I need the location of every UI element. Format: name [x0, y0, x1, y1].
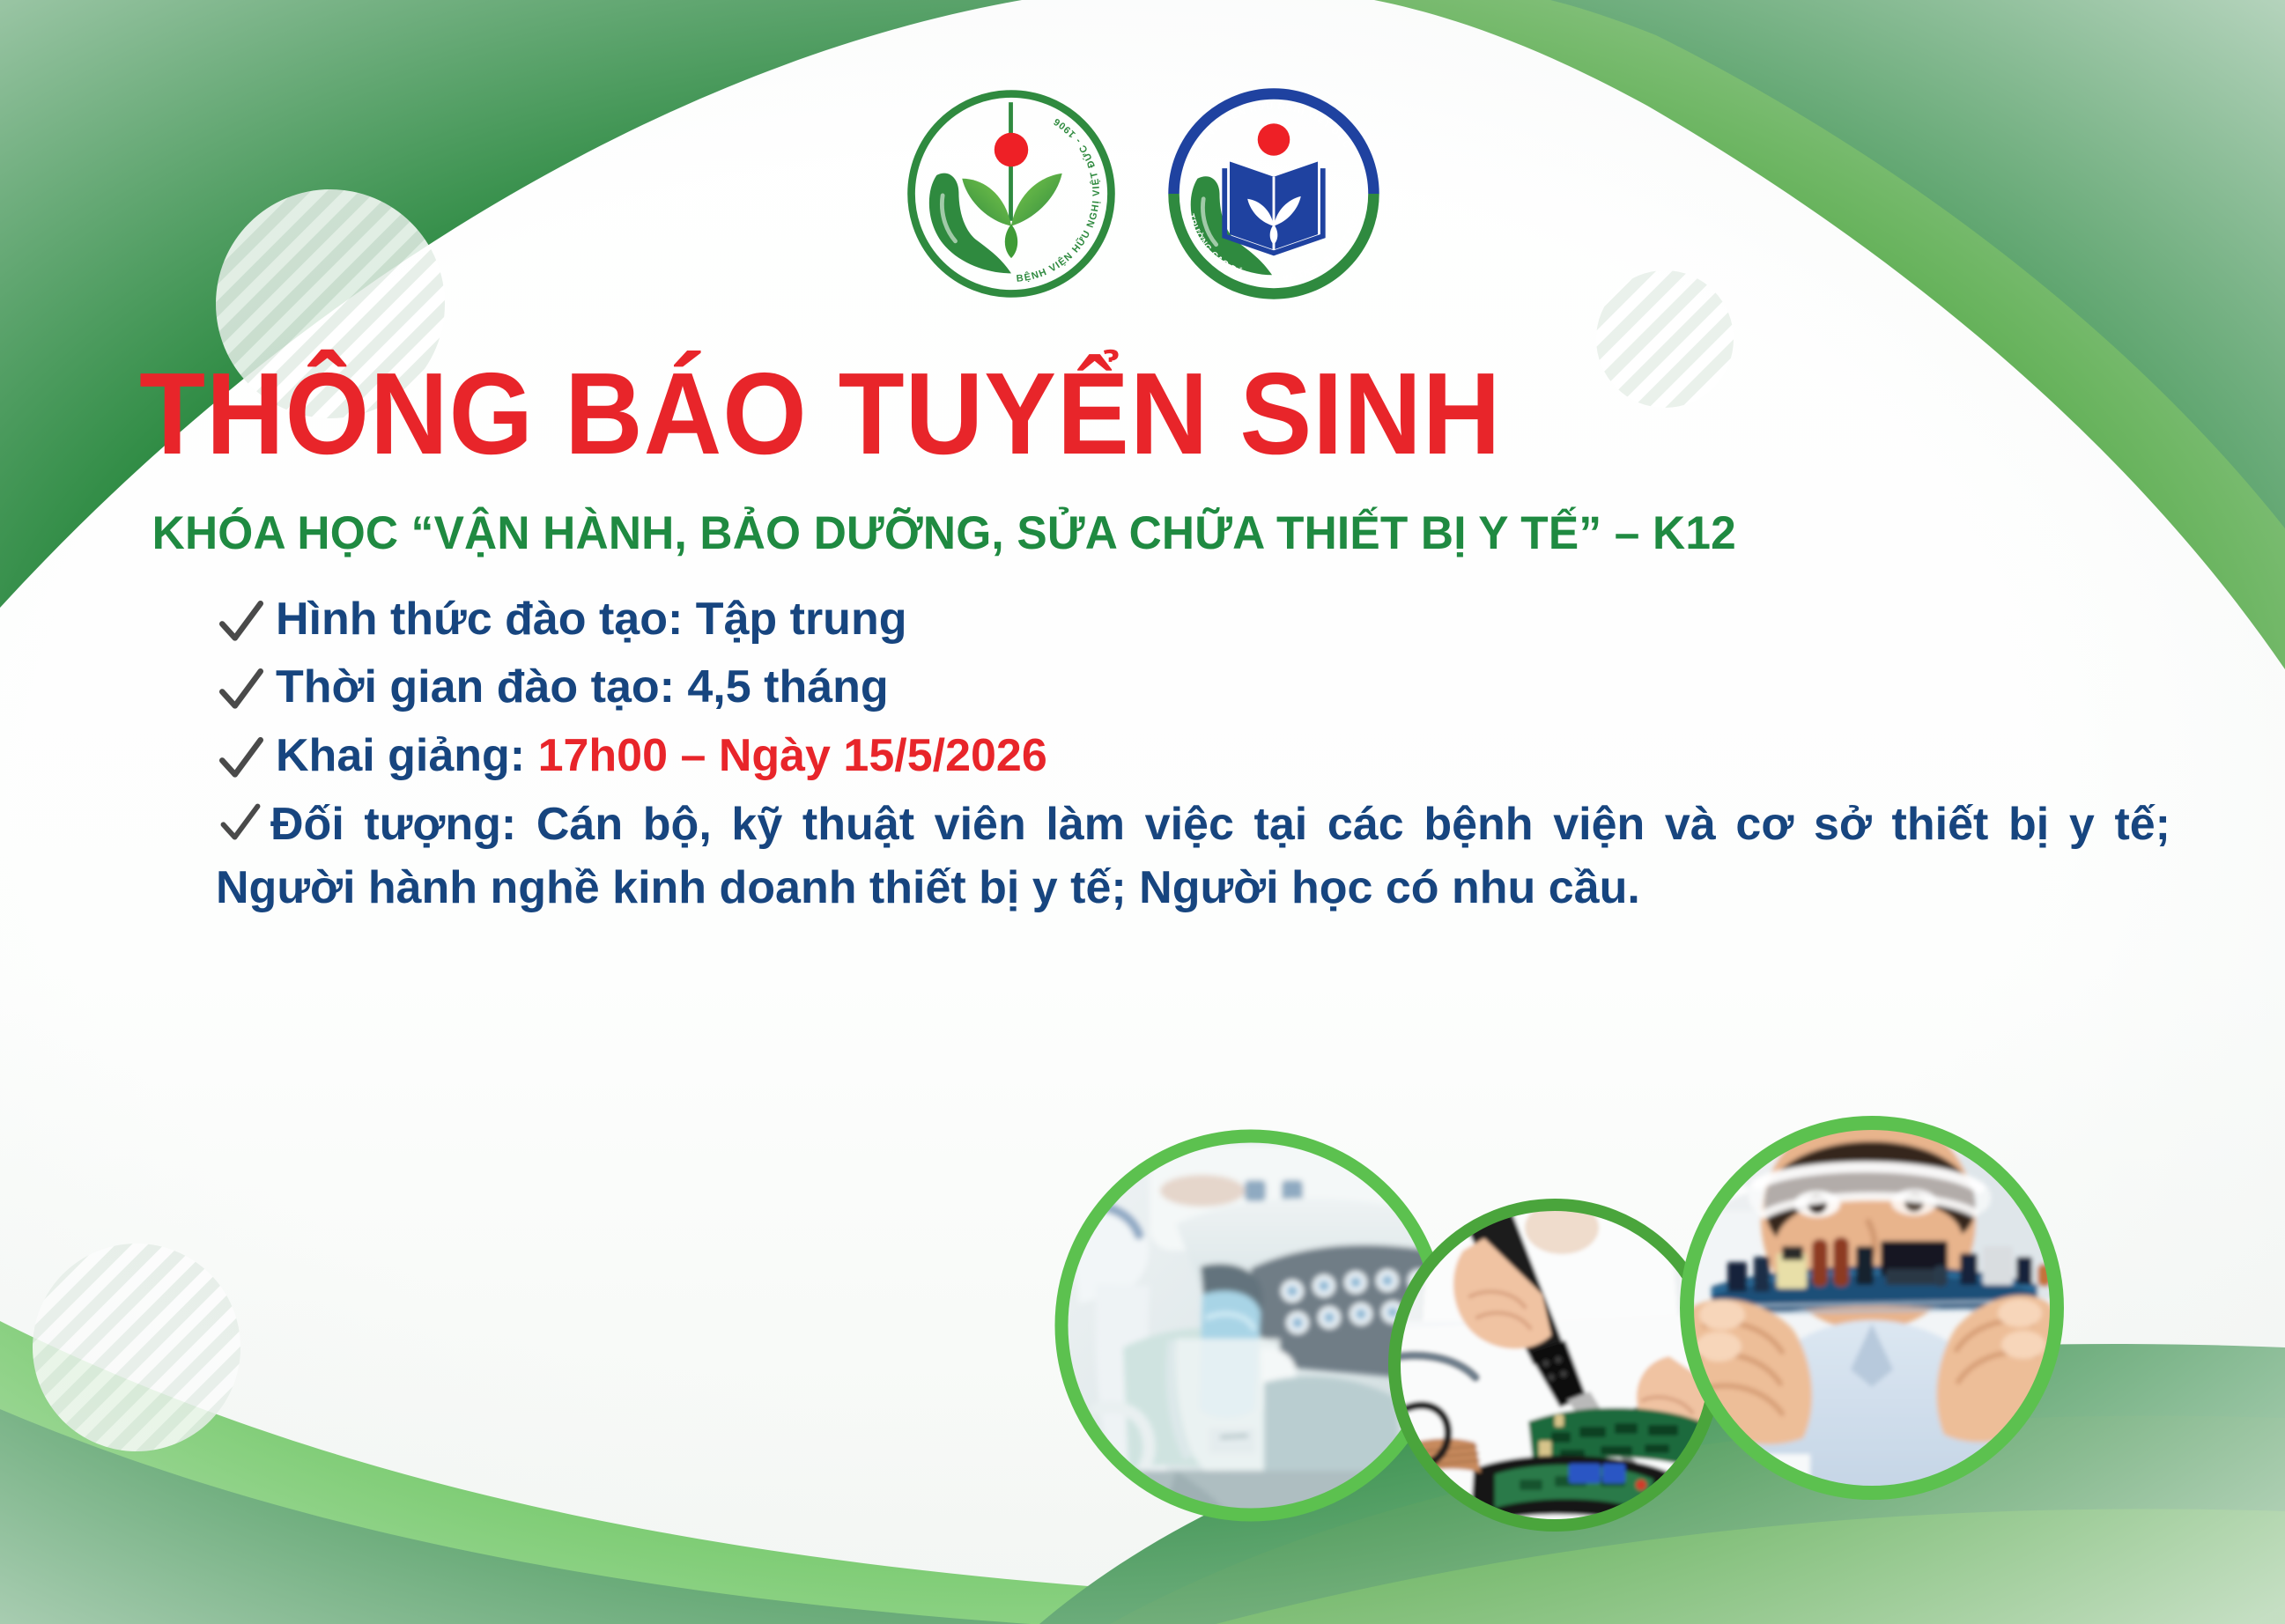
announcement-content: THÔNG BÁO TUYỂN SINH KHÓA HỌC “VẬN HÀNH,…: [0, 352, 2285, 919]
start-date-label: Khai giảng:: [276, 730, 525, 781]
audience-text: Đối tượng: Cán bộ, kỹ thuật viên làm việ…: [216, 799, 2170, 913]
page-title: THÔNG BÁO TUYỂN SINH: [0, 352, 2125, 476]
detail-audience: Đối tượng: Cán bộ, kỹ thuật viên làm việ…: [0, 794, 2285, 920]
college-logo: BỆNH VIỆN HỮU NGHỊ VIỆT ĐỨC TRƯỜNG CAO Đ…: [1164, 84, 1384, 304]
recruitment-announcement-poster: BỆNH VIỆN HỮU NGHỊ VIỆT ĐỨC - 1906: [0, 0, 2285, 1624]
hospital-logo: BỆNH VIỆN HỮU NGHỊ VIỆT ĐỨC - 1906: [901, 84, 1121, 304]
check-mark-icon: [216, 597, 267, 648]
list-item: Khai giảng: 17h00 – Ngày 15/5/2026: [216, 725, 2162, 788]
list-item: Thời gian đào tạo: 4,5 tháng: [216, 656, 2162, 720]
details-list: Hình thức đào tạo: Tập trung Thời gian đ…: [0, 588, 2285, 788]
list-item: Hình thức đào tạo: Tập trung: [216, 588, 2162, 652]
photo-gallery: [1044, 1105, 2285, 1624]
check-mark-icon: [216, 734, 267, 785]
detail-training-format: Hình thức đào tạo: Tập trung: [276, 588, 2162, 652]
photo-inspecting-board: [1669, 1105, 2074, 1510]
check-mark-icon: [216, 665, 267, 716]
start-date-value: 17h00 – Ngày 15/5/2026: [538, 730, 1047, 781]
logo-row: BỆNH VIỆN HỮU NGHỊ VIỆT ĐỨC - 1906: [0, 84, 2285, 304]
course-subtitle: KHÓA HỌC “VẬN HÀNH, BẢO DƯỠNG, SỬA CHỮA …: [0, 506, 2216, 562]
check-mark-icon: [216, 801, 265, 846]
detail-training-duration: Thời gian đào tạo: 4,5 tháng: [276, 656, 2162, 720]
detail-start-date: Khai giảng: 17h00 – Ngày 15/5/2026: [276, 725, 2162, 788]
